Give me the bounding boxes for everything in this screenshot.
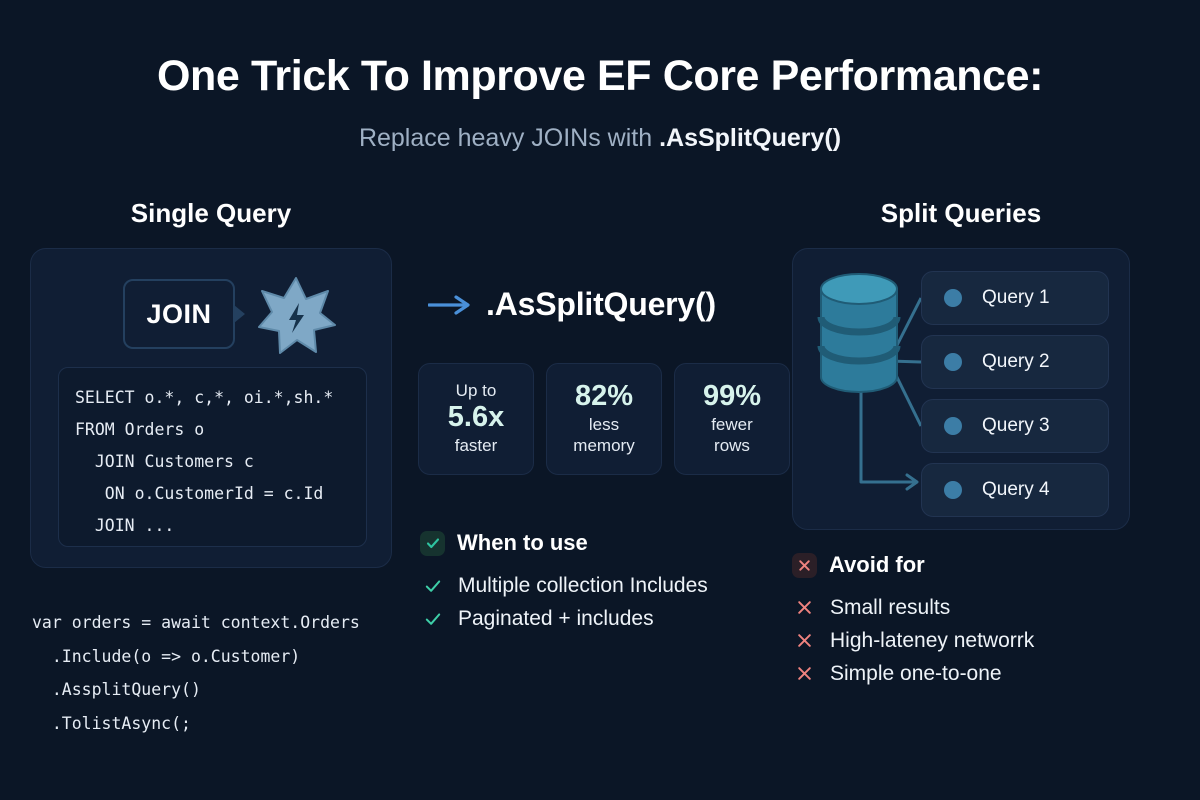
query-dot-icon — [944, 353, 962, 371]
split-diagram: Query 1 Query 2 Query 3 Query 4 — [793, 249, 1131, 531]
query-card[interactable]: Query 3 — [921, 399, 1109, 453]
single-query-panel: JOIN SELECT o.*, c,*, oi.*,sh.* FROM Ord… — [30, 248, 392, 568]
arrow-right-icon — [428, 294, 472, 316]
query-card[interactable]: Query 1 — [921, 271, 1109, 325]
avoid-for-list: Avoid for Small results High-lateney net… — [792, 552, 1034, 690]
list-item-label: Simple one-to-one — [830, 662, 1002, 686]
csharp-code-text: var orders = await context.Orders .Inclu… — [32, 606, 452, 740]
when-to-use-header: When to use — [420, 530, 708, 556]
query-card[interactable]: Query 2 — [921, 335, 1109, 389]
stat-unit: fewer rows — [711, 414, 753, 457]
assplitquery-callout: .AsSplitQuery() — [428, 286, 716, 323]
stats-row: Up to 5.6x faster 82% less memory 99% fe… — [418, 363, 790, 475]
list-item-label: Small results — [830, 596, 950, 620]
single-query-heading: Single Query — [30, 198, 392, 229]
database-icon — [821, 274, 897, 392]
when-to-use-title: When to use — [457, 530, 588, 556]
check-icon — [420, 610, 445, 628]
stat-card-speed: Up to 5.6x faster — [418, 363, 534, 475]
join-tag-arrow-icon — [234, 305, 245, 323]
close-icon — [792, 632, 817, 649]
stat-unit: less memory — [573, 414, 634, 457]
list-item: Small results — [792, 591, 1034, 624]
page-subtitle: Replace heavy JOINs with .AsSplitQuery() — [0, 124, 1200, 153]
stat-card-memory: 82% less memory — [546, 363, 662, 475]
method-label: .AsSplitQuery() — [486, 286, 716, 323]
list-item: High-lateney networrk — [792, 624, 1034, 657]
list-item: Simple one-to-one — [792, 657, 1034, 690]
subtitle-method: .AsSplitQuery() — [659, 124, 841, 152]
list-item-label: Paginated + includes — [458, 607, 654, 631]
burst-lightning-icon — [256, 275, 336, 360]
page-title: One Trick To Improve EF Core Performance… — [0, 52, 1200, 101]
split-queries-panel: Query 1 Query 2 Query 3 Query 4 — [792, 248, 1130, 530]
close-icon — [792, 599, 817, 616]
infographic-canvas: One Trick To Improve EF Core Performance… — [0, 0, 1200, 800]
stat-value: 82% — [575, 381, 633, 413]
sql-code-block: SELECT o.*, c,*, oi.*,sh.* FROM Orders o… — [58, 367, 367, 547]
check-badge-icon — [420, 531, 445, 556]
sql-code-text: SELECT o.*, c,*, oi.*,sh.* FROM Orders o… — [75, 382, 350, 542]
stat-value: 99% — [703, 381, 761, 413]
stat-value: 5.6x — [448, 402, 504, 434]
list-item-label: High-lateney networrk — [830, 629, 1034, 653]
query-dot-icon — [944, 417, 962, 435]
join-illustration: JOIN — [123, 279, 353, 351]
query-label: Query 4 — [982, 479, 1050, 501]
query-dot-icon — [944, 289, 962, 307]
close-icon — [792, 665, 817, 682]
split-queries-heading: Split Queries — [792, 198, 1130, 229]
check-icon — [420, 577, 445, 595]
avoid-for-title: Avoid for — [829, 552, 925, 578]
csharp-code-block: var orders = await context.Orders .Inclu… — [32, 606, 452, 740]
close-badge-icon — [792, 553, 817, 578]
query-card[interactable]: Query 4 — [921, 463, 1109, 517]
list-item: Paginated + includes — [420, 602, 708, 635]
when-to-use-list: When to use Multiple collection Includes… — [420, 530, 708, 635]
query-label: Query 3 — [982, 415, 1050, 437]
stat-card-rows: 99% fewer rows — [674, 363, 790, 475]
query-label: Query 1 — [982, 287, 1050, 309]
subtitle-prefix: Replace heavy JOINs with — [359, 124, 659, 152]
list-item-label: Multiple collection Includes — [458, 574, 708, 598]
query-label: Query 2 — [982, 351, 1050, 373]
stat-prefix: Up to — [456, 381, 497, 401]
avoid-for-header: Avoid for — [792, 552, 1034, 578]
list-item: Multiple collection Includes — [420, 569, 708, 602]
stat-unit: faster — [455, 435, 498, 456]
query-dot-icon — [944, 481, 962, 499]
join-badge: JOIN — [123, 279, 235, 349]
